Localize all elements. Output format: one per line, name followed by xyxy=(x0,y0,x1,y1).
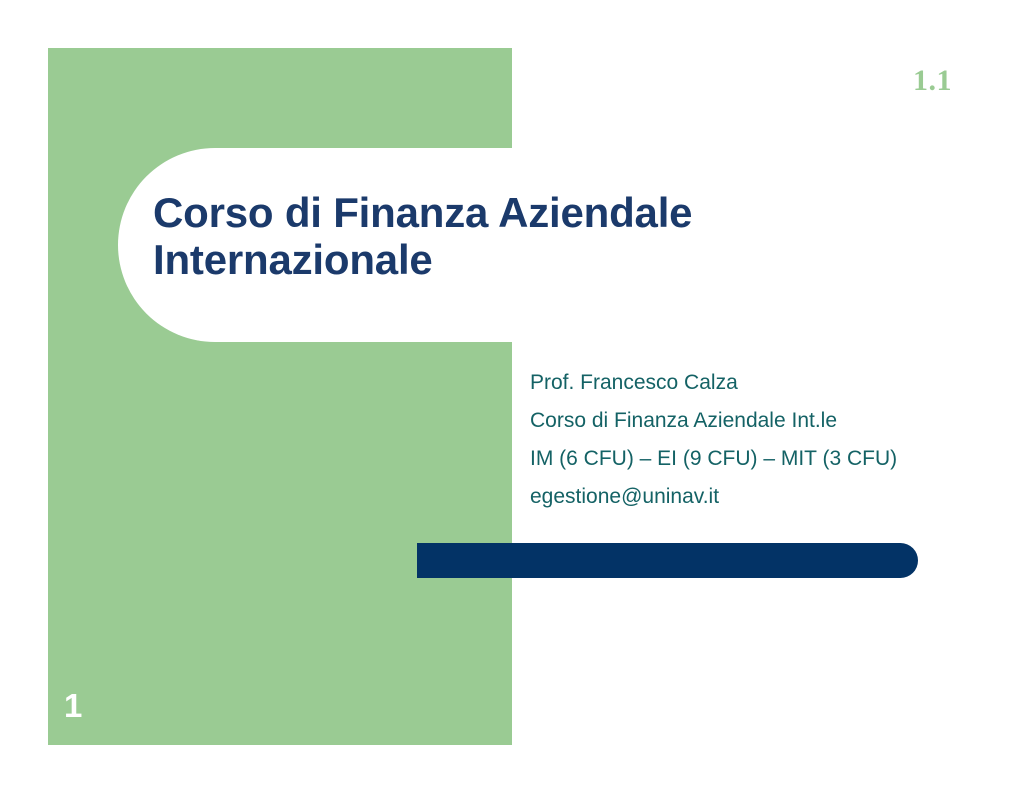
presentation-slide: 1.1 Corso di Finanza Aziendale Internazi… xyxy=(0,0,1024,791)
subtitle-line-email: egestione@uninav.it xyxy=(530,481,930,513)
page-title-line-2: Internazionale xyxy=(153,236,853,283)
subtitle-line-credits: IM (6 CFU) – EI (9 CFU) – MIT (3 CFU) xyxy=(530,443,930,475)
page-title-line-1: Corso di Finanza Aziendale xyxy=(153,189,853,236)
navy-accent-bar xyxy=(417,543,918,578)
subtitle-line-instructor: Prof. Francesco Calza xyxy=(530,367,930,399)
subtitle-line-course: Corso di Finanza Aziendale Int.le xyxy=(530,405,930,437)
subtitle-block: Prof. Francesco Calza Corso di Finanza A… xyxy=(530,367,930,519)
page-title: Corso di Finanza Aziendale Internazional… xyxy=(153,189,853,283)
slide-number-label: 1.1 xyxy=(913,66,952,96)
page-number-label: 1 xyxy=(64,689,82,722)
